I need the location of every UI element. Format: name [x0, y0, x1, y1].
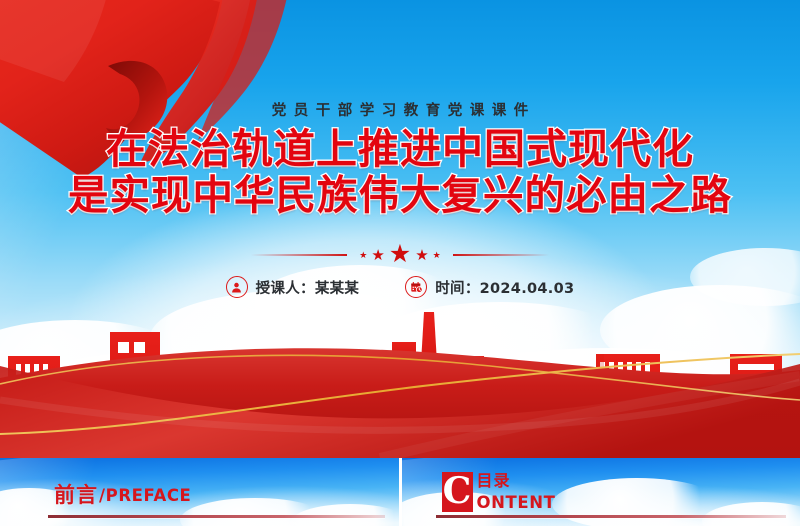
- content-label: C 目录 ONTENT: [442, 472, 556, 512]
- star-group: ★ ★ ★ ★ ★: [352, 243, 447, 267]
- title-line-1: 在法治轨道上推进中国式现代化: [0, 126, 800, 172]
- preface-label-en: /PREFACE: [99, 486, 191, 506]
- star-icon: ★: [433, 251, 441, 260]
- bottom-panels: 前言 /PREFACE C 目录 ONTENT: [0, 458, 800, 526]
- content-badge: C: [442, 472, 473, 512]
- preface-label-cn: 前言: [54, 484, 98, 506]
- person-icon: [226, 276, 248, 298]
- panel-cloud: [552, 478, 722, 526]
- content-underline: [436, 515, 787, 518]
- date-text: 时间：2024.04.03: [435, 277, 574, 298]
- star-icon: ★: [389, 242, 411, 267]
- divider-line-right: [453, 254, 549, 256]
- content-label-en: ONTENT: [477, 494, 556, 512]
- poster-meta-row: 授课人：某某某 时间：2024.04.03: [0, 276, 800, 298]
- preface-underline: [48, 515, 385, 518]
- presenter-meta: 授课人：某某某: [226, 276, 360, 298]
- content-badge-letter: C: [443, 474, 472, 508]
- poster: 党员干部学习教育党课课件 在法治轨道上推进中国式现代化 是实现中华民族伟大复兴的…: [0, 0, 800, 526]
- content-label-cn: 目录: [477, 472, 556, 489]
- hero-sky-background: 党员干部学习教育党课课件 在法治轨道上推进中国式现代化 是实现中华民族伟大复兴的…: [0, 0, 800, 458]
- poster-subtitle: 党员干部学习教育党课课件: [0, 99, 800, 120]
- panel-preface[interactable]: 前言 /PREFACE: [0, 458, 399, 526]
- poster-title-block: 在法治轨道上推进中国式现代化 是实现中华民族伟大复兴的必由之路: [0, 126, 800, 218]
- star-icon: ★: [359, 251, 367, 260]
- star-icon: ★: [371, 248, 384, 263]
- presenter-text: 授课人：某某某: [256, 277, 360, 298]
- star-icon: ★: [415, 248, 428, 263]
- preface-label: 前言 /PREFACE: [54, 484, 191, 506]
- content-label-stack: 目录 ONTENT: [477, 472, 556, 512]
- calendar-clock-icon: [405, 276, 427, 298]
- star-divider: ★ ★ ★ ★ ★: [0, 243, 800, 267]
- date-meta: 时间：2024.04.03: [405, 276, 574, 298]
- red-ribbon-band: [0, 338, 800, 458]
- divider-line-left: [251, 254, 347, 256]
- panel-content[interactable]: C 目录 ONTENT: [402, 458, 800, 526]
- title-line-2: 是实现中华民族伟大复兴的必由之路: [0, 172, 800, 218]
